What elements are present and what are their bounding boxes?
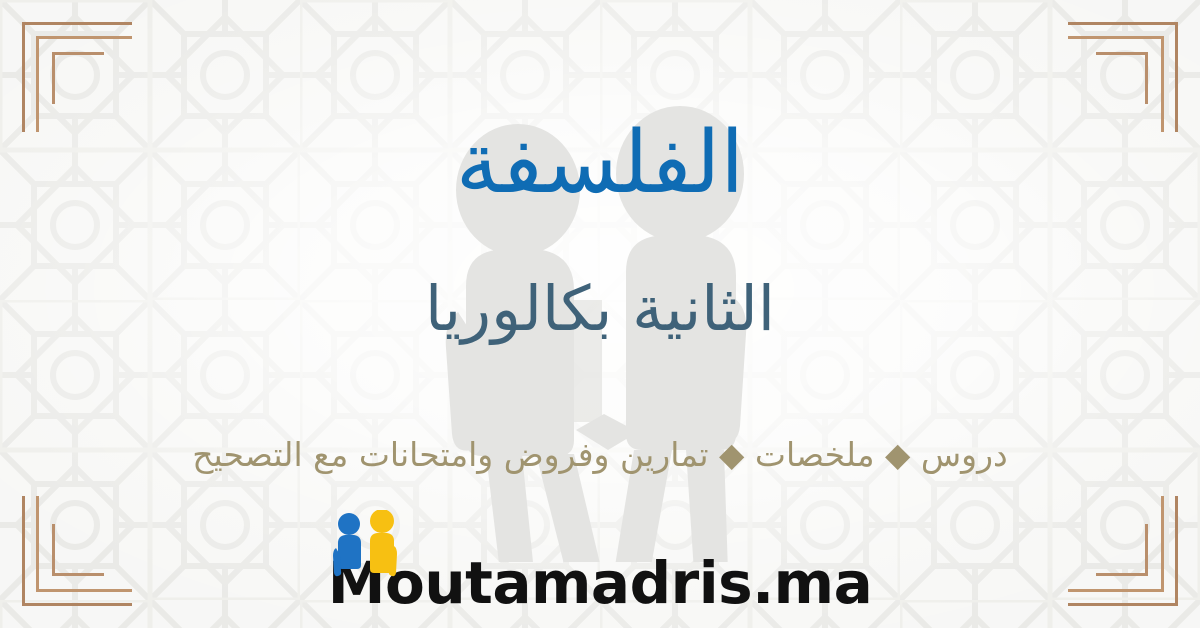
two-students-holding-hands-logo-mark-icon [332,510,406,580]
grade-level-label: الثانية بكالوريا [0,275,1200,343]
brand-wordmark: Moutamadris.ma [328,554,872,614]
page-title: الفلسفة [0,118,1200,208]
brand-logo[interactable]: Moutamadris.ma [0,514,1200,614]
tagline: دروس ◆ ملخصات ◆ تمارين وفروض وامتحانات م… [0,435,1200,475]
brand-logo-inner: Moutamadris.ma [328,554,872,614]
poster-content: الفلسفة الثانية بكالوريا دروس ◆ ملخصات ◆… [0,0,1200,628]
poster-canvas: الفلسفة الثانية بكالوريا دروس ◆ ملخصات ◆… [0,0,1200,628]
